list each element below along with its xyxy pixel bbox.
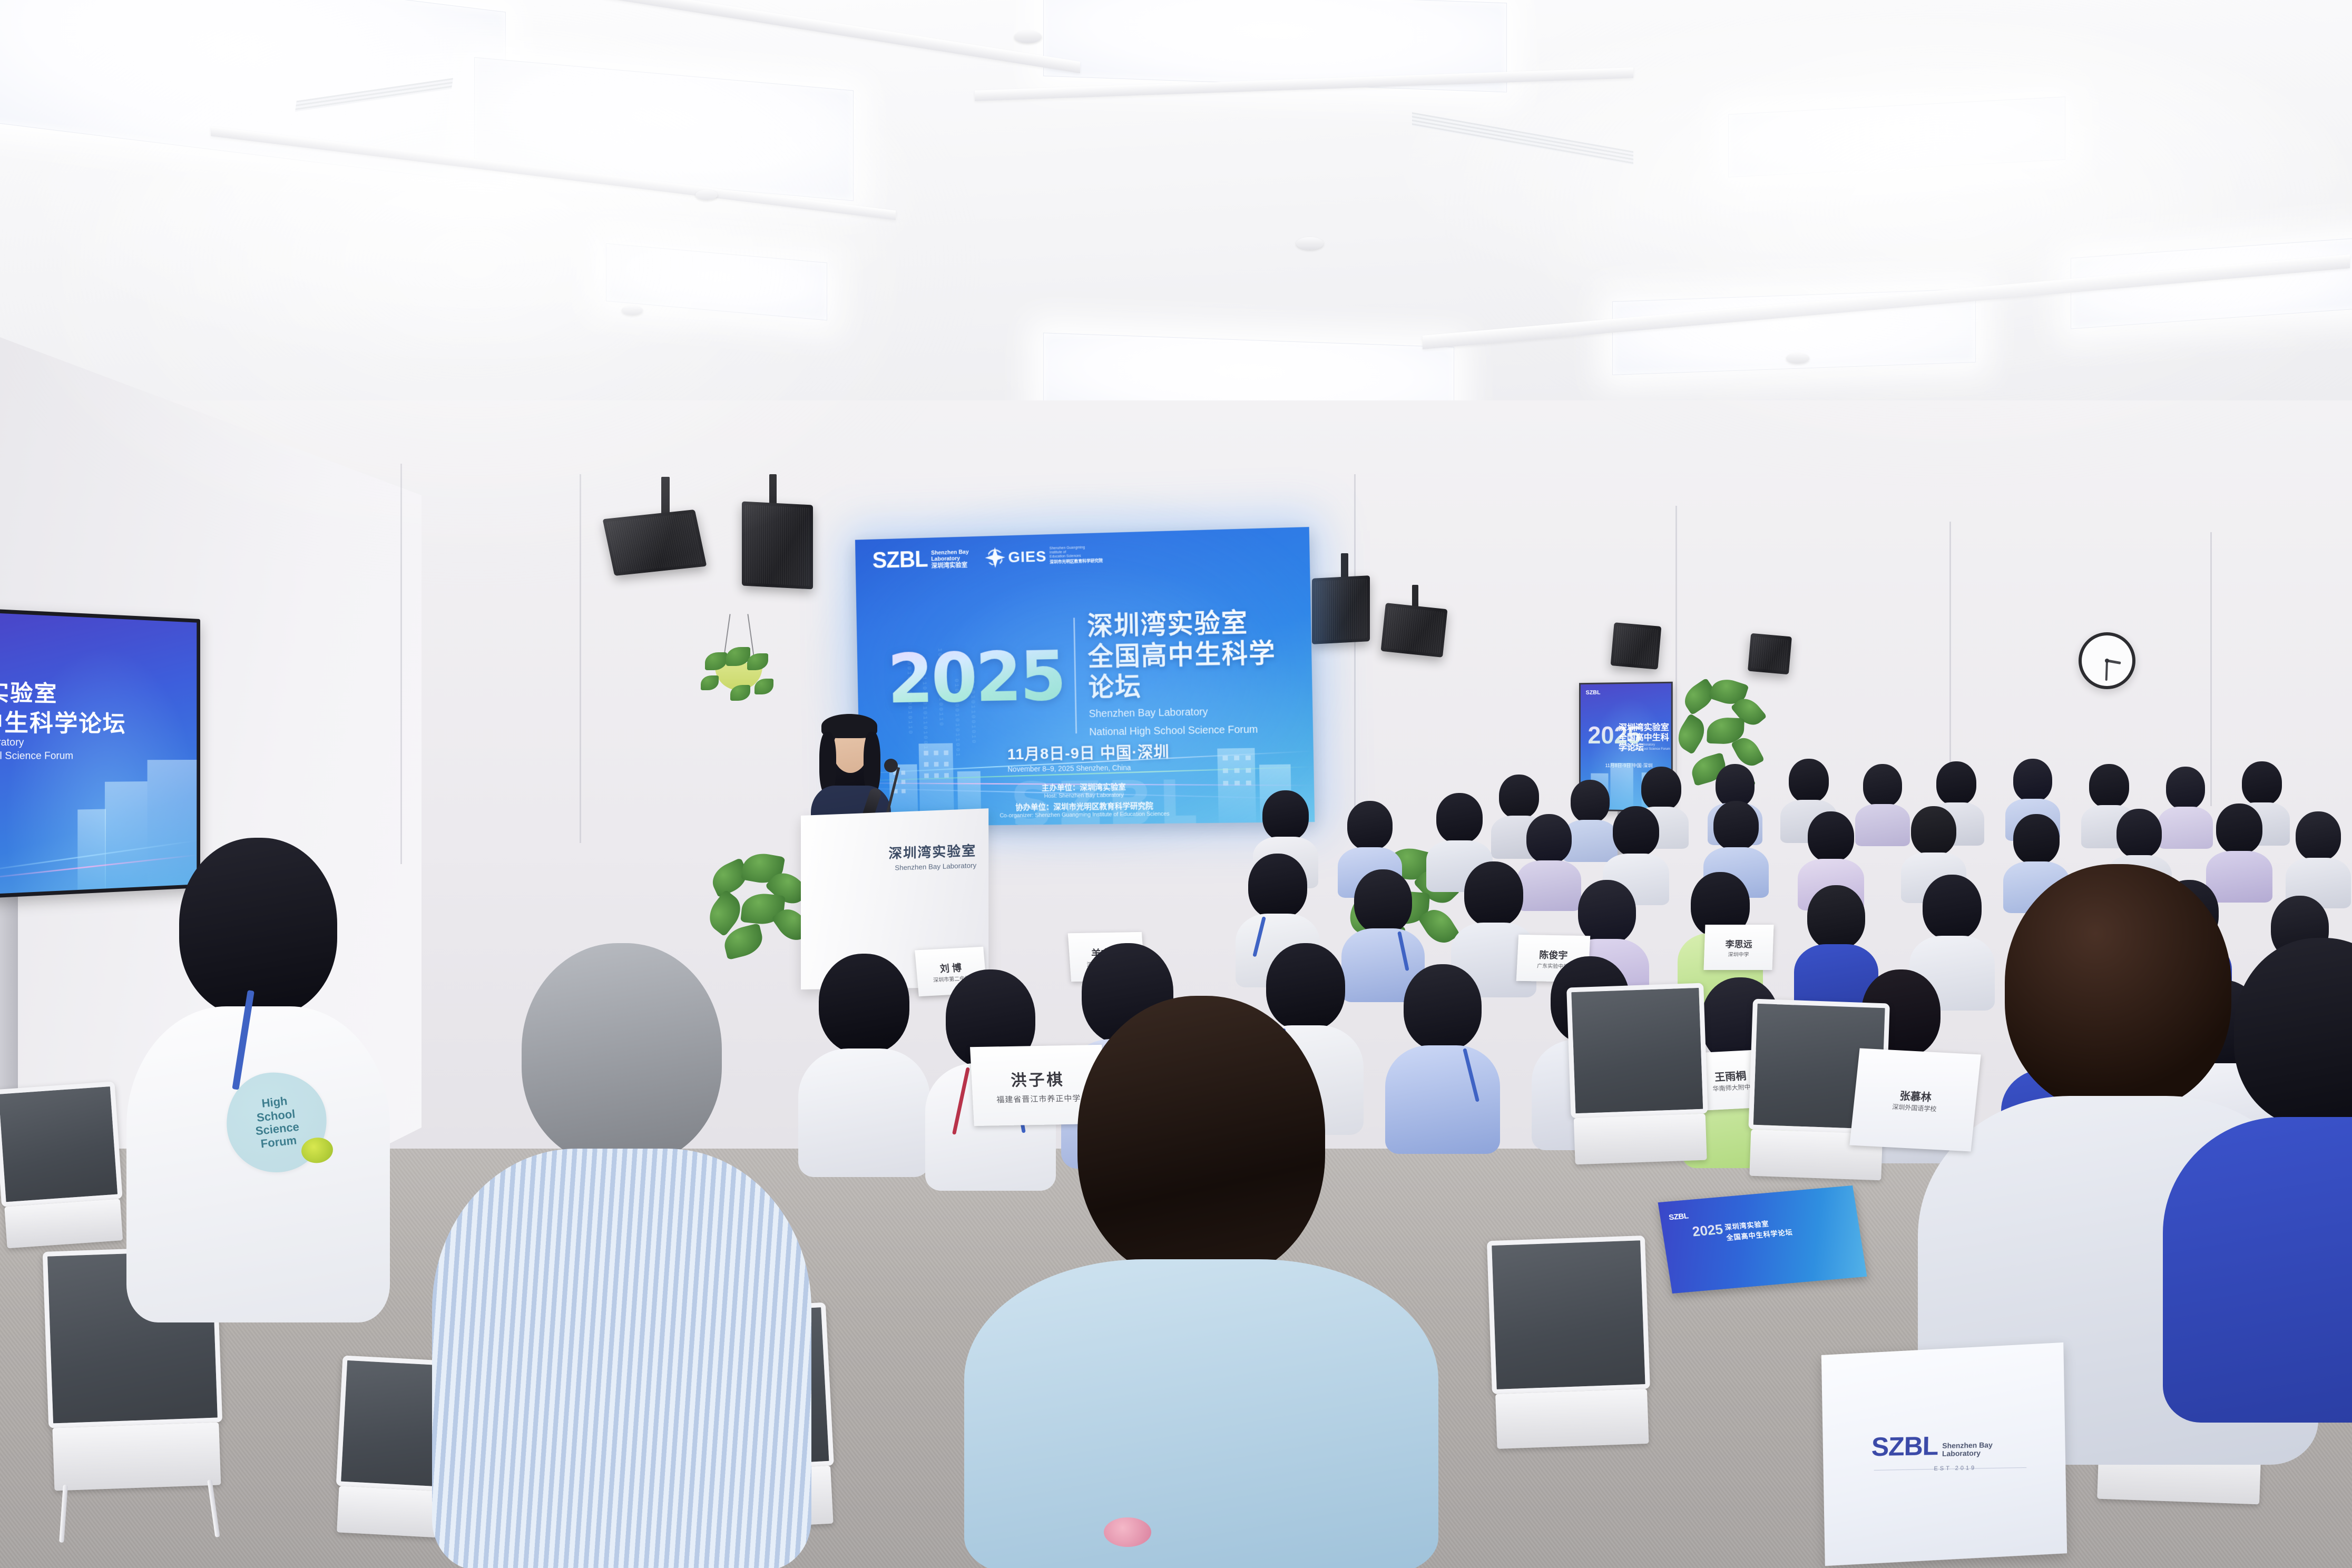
attendee: [1523, 814, 1575, 909]
right-monitor-title-en2: National High School Science Forum: [1619, 747, 1670, 751]
right-monitor-title-en1: Shenzhen Bay Laboratory: [1619, 743, 1670, 747]
szbl-wordmark: SZBL: [872, 550, 928, 571]
left-display-title-cn2: 高中生科学论坛: [0, 703, 126, 739]
gies-diamond-icon: [985, 547, 1005, 568]
folding-chair[interactable]: [1487, 1236, 1653, 1488]
attendee: [811, 954, 917, 1175]
smoke-detector-icon: [1296, 237, 1324, 250]
seat-name-card: 李思远 深圳中学: [1703, 925, 1773, 970]
right-monitor-title-en: Shenzhen Bay Laboratory National High Sc…: [1619, 743, 1670, 751]
event-date-block: 11月8日-9日 中国·深圳 November 8–9, 2025 Shenzh…: [1007, 739, 1170, 773]
booklet-year: 2025: [1691, 1221, 1724, 1240]
booklet-logo: SZBL: [1668, 1211, 1689, 1222]
ceiling-speaker: [1312, 575, 1370, 644]
lectern-name-en: Shenzhen Bay Laboratory: [889, 861, 977, 872]
chair-seat: [4, 1199, 123, 1248]
chair-backrest: [1566, 983, 1708, 1119]
left-display-title-cn1: 湾实验室: [0, 673, 57, 708]
forum-title-cn-line1: 深圳湾实验室: [1087, 606, 1290, 642]
szbl-tote-bag[interactable]: SZBL Shenzhen Bay Laboratory EST 2019: [1821, 1342, 2067, 1566]
tote-sub-line2: Laboratory: [1942, 1449, 1993, 1458]
smoke-detector-icon: [622, 306, 643, 315]
name-card-school: 华南师大附中: [1712, 1082, 1751, 1093]
lectern-name-cn: 深圳湾实验室: [889, 840, 977, 863]
ceiling-speaker: [1611, 622, 1662, 670]
chair-leg: [207, 1479, 220, 1537]
hair-clip: [1104, 1517, 1151, 1547]
right-monitor-logo: SZBL: [1586, 690, 1601, 696]
handout-name: 张慕林: [1899, 1087, 1932, 1104]
attendee: [1396, 964, 1488, 1154]
gies-chinese-name: 深圳市光明区教育科学研究院: [1050, 557, 1103, 565]
title-divider: [1073, 618, 1077, 733]
szbl-sub-line1: Shenzhen Bay: [931, 549, 969, 556]
ceiling-speaker: [603, 509, 707, 576]
gies-logo: GIES Shenzhen Guangming Institute of Edu…: [985, 544, 1103, 568]
smoke-detector-icon: [1014, 31, 1042, 43]
name-card-school: 深圳中学: [1728, 950, 1749, 958]
gooseneck-mic-head: [884, 759, 898, 772]
ceiling-speaker: [742, 501, 813, 589]
chair-seat: [1495, 1389, 1649, 1448]
screen-title-block: 2025 深圳湾实验室 全国高中生科学论坛 Shenzhen Bay Labor…: [886, 606, 1292, 742]
ceiling-speaker: [1748, 633, 1792, 675]
handout-sheet[interactable]: 张慕林 深圳外国语学校: [1849, 1048, 1981, 1151]
wall-clock: [2079, 632, 2135, 689]
attendee-front-center-left: [490, 943, 753, 1568]
handout-school: 深圳外国语学校: [1892, 1102, 1937, 1113]
clock-center-pin: [2105, 659, 2109, 663]
forum-title-en-line1: Shenzhen Bay Laboratory: [1089, 704, 1291, 721]
tote-est-year: EST 2019: [1934, 1465, 1976, 1472]
program-booklet[interactable]: SZBL 2025 深圳湾实验室 全国高中生科学论坛: [1658, 1185, 1867, 1293]
ceiling-speaker: [1381, 603, 1448, 658]
attendee: [1860, 764, 1905, 843]
gies-wordmark: GIES: [1008, 549, 1046, 564]
name-card-name: 李思远: [1725, 937, 1752, 950]
folding-chair[interactable]: [1566, 983, 1711, 1199]
year-numeral: 2025: [887, 642, 1065, 713]
clock-minute-hand: [2105, 661, 2108, 681]
attendee-right-edge: [2208, 938, 2352, 1412]
folding-chair[interactable]: [0, 1081, 128, 1279]
chair-seat: [52, 1422, 221, 1491]
event-date-cn: 11月8日-9日 中国·深圳: [1007, 739, 1169, 764]
szbl-chinese-name: 深圳湾实验室: [931, 561, 969, 570]
tote-logo: SZBL Shenzhen Bay Laboratory: [1871, 1433, 1993, 1459]
chair-backrest: [1487, 1236, 1650, 1395]
attendee-front-center: [1038, 996, 1365, 1568]
chair-leg: [59, 1484, 68, 1542]
right-monitor-title-cn1: 深圳湾实验室: [1619, 723, 1671, 733]
left-display-title-en2: gh School Science Forum: [0, 750, 73, 762]
smoke-detector-icon: [1786, 353, 1809, 364]
smoke-detector-icon: [695, 190, 718, 200]
chair-seat: [1574, 1114, 1707, 1165]
lectern-signage: 深圳湾实验室 Shenzhen Bay Laboratory: [889, 840, 977, 872]
chair-backrest: [0, 1081, 123, 1207]
name-card-name: 王雨桐: [1714, 1067, 1747, 1084]
szbl-logo: SZBL Shenzhen Bay Laboratory 深圳湾实验室: [872, 548, 969, 571]
conference-room-photo: 湾实验室 高中生科学论坛 ay Laboratory gh School Sci…: [0, 0, 2352, 1568]
attendee: [2292, 811, 2345, 906]
main-led-screen: 1001011010010110 0110100101101001 101001…: [855, 527, 1315, 827]
forum-title-cn-line2: 全国高中生科学论坛: [1087, 638, 1291, 703]
attendee: [2163, 767, 2208, 846]
left-display-title-en1: ay Laboratory: [0, 736, 24, 748]
tote-wordmark: SZBL: [1871, 1434, 1938, 1459]
